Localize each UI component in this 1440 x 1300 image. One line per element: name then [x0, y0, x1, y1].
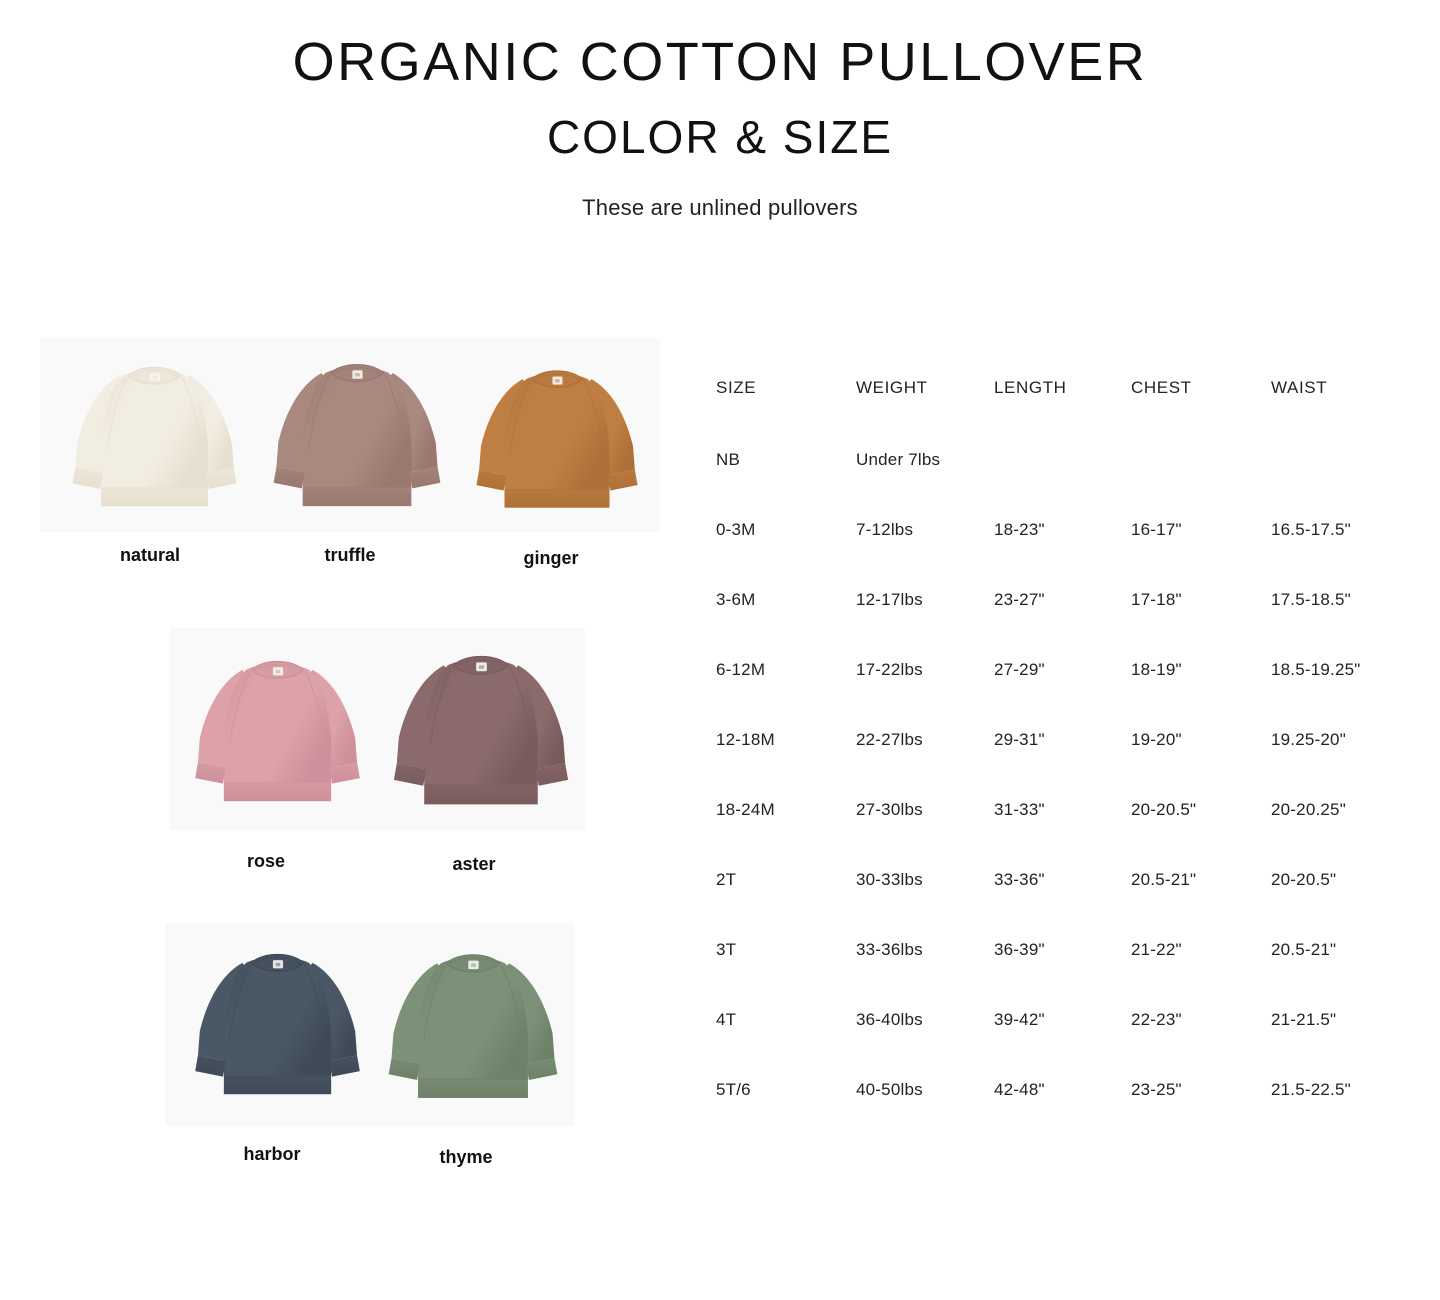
size-chart: SIZE WEIGHT LENGTH CHEST WAIST NBUnder 7… [716, 378, 1416, 1100]
sweatshirt-illustration [62, 348, 247, 523]
cell-waist: 17.5-18.5" [1271, 590, 1416, 660]
cell-size: 2T [716, 870, 856, 940]
color-label-harbor: harbor [182, 1144, 362, 1165]
table-row: 3T33-36lbs36-39"21-22"20.5-21" [716, 940, 1416, 1010]
color-label-thyme: thyme [376, 1147, 556, 1168]
cell-size: 0-3M [716, 520, 856, 590]
cell-size: 3T [716, 940, 856, 1010]
cell-chest: 19-20" [1131, 730, 1271, 800]
cell-chest: 17-18" [1131, 590, 1271, 660]
cell-length: 33-36" [994, 870, 1131, 940]
cell-weight: 36-40lbs [856, 1010, 994, 1080]
table-row: 12-18M22-27lbs29-31"19-20"19.25-20" [716, 730, 1416, 800]
sweatshirt-illustration [378, 935, 568, 1115]
cell-length: 23-27" [994, 590, 1131, 660]
column-header-waist: WAIST [1271, 378, 1416, 450]
sweatshirt-illustration [382, 636, 580, 822]
cell-length: 18-23" [994, 520, 1131, 590]
sweatshirt-illustration [262, 345, 452, 523]
cell-chest: 20-20.5" [1131, 800, 1271, 870]
size-chart-body: NBUnder 7lbs0-3M7-12lbs18-23"16-17"16.5-… [716, 450, 1416, 1100]
cell-weight: 17-22lbs [856, 660, 994, 730]
cell-size: 3-6M [716, 590, 856, 660]
table-row: NBUnder 7lbs [716, 450, 1416, 520]
table-row: 4T36-40lbs39-42"22-23"21-21.5" [716, 1010, 1416, 1080]
cell-waist: 21-21.5" [1271, 1010, 1416, 1080]
color-swatch-truffle[interactable] [262, 345, 452, 523]
table-row: 2T30-33lbs33-36"20.5-21"20-20.5" [716, 870, 1416, 940]
table-row: 3-6M12-17lbs23-27"17-18"17.5-18.5" [716, 590, 1416, 660]
color-label-aster: aster [384, 854, 564, 875]
cell-weight: 7-12lbs [856, 520, 994, 590]
table-row: 6-12M17-22lbs27-29"18-19"18.5-19.25" [716, 660, 1416, 730]
size-chart-table: SIZE WEIGHT LENGTH CHEST WAIST NBUnder 7… [716, 378, 1416, 1100]
color-label-rose: rose [176, 851, 356, 872]
cell-size: 12-18M [716, 730, 856, 800]
column-header-size: SIZE [716, 378, 856, 450]
cell-weight: 27-30lbs [856, 800, 994, 870]
column-header-length: LENGTH [994, 378, 1131, 450]
cell-length [994, 450, 1131, 520]
cell-waist: 21.5-22.5" [1271, 1080, 1416, 1100]
cell-length: 31-33" [994, 800, 1131, 870]
cell-chest: 16-17" [1131, 520, 1271, 590]
cell-chest: 21-22" [1131, 940, 1271, 1010]
cell-waist: 20.5-21" [1271, 940, 1416, 1010]
page-header: ORGANIC COTTON PULLOVER COLOR & SIZE The… [0, 0, 1440, 221]
color-label-truffle: truffle [260, 545, 440, 566]
column-header-chest: CHEST [1131, 378, 1271, 450]
cell-weight: 30-33lbs [856, 870, 994, 940]
sweatshirt-illustration [185, 640, 370, 820]
table-row: 5T/640-50lbs42-48"23-25"21.5-22.5" [716, 1080, 1416, 1100]
color-swatch-harbor[interactable] [185, 932, 370, 1114]
cell-weight: 22-27lbs [856, 730, 994, 800]
cell-size: 18-24M [716, 800, 856, 870]
color-swatch-rose[interactable] [185, 640, 370, 820]
cell-waist [1271, 450, 1416, 520]
size-chart-header-row: SIZE WEIGHT LENGTH CHEST WAIST [716, 378, 1416, 450]
cell-waist: 20-20.5" [1271, 870, 1416, 940]
cell-waist: 19.25-20" [1271, 730, 1416, 800]
cell-size: 6-12M [716, 660, 856, 730]
color-swatch-aster[interactable] [382, 636, 580, 822]
color-label-ginger: ginger [461, 548, 641, 569]
color-swatch-thyme[interactable] [378, 935, 568, 1115]
cell-length: 27-29" [994, 660, 1131, 730]
cell-waist: 20-20.25" [1271, 800, 1416, 870]
cell-weight: 40-50lbs [856, 1080, 994, 1100]
color-swatch-natural[interactable] [62, 348, 247, 523]
page-subtitle: COLOR & SIZE [0, 113, 1440, 161]
cell-size: 4T [716, 1010, 856, 1080]
cell-weight: Under 7lbs [856, 450, 994, 520]
cell-chest: 23-25" [1131, 1080, 1271, 1100]
cell-length: 39-42" [994, 1010, 1131, 1080]
page-title: ORGANIC COTTON PULLOVER [0, 34, 1440, 91]
page-tagline: These are unlined pullovers [0, 195, 1440, 221]
cell-chest: 22-23" [1131, 1010, 1271, 1080]
cell-chest [1131, 450, 1271, 520]
cell-weight: 12-17lbs [856, 590, 994, 660]
sweatshirt-illustration [462, 352, 652, 524]
color-swatch-ginger[interactable] [462, 352, 652, 524]
cell-length: 42-48" [994, 1080, 1131, 1100]
cell-length: 36-39" [994, 940, 1131, 1010]
cell-length: 29-31" [994, 730, 1131, 800]
cell-chest: 18-19" [1131, 660, 1271, 730]
cell-waist: 18.5-19.25" [1271, 660, 1416, 730]
cell-weight: 33-36lbs [856, 940, 994, 1010]
cell-size: 5T/6 [716, 1080, 856, 1100]
cell-chest: 20.5-21" [1131, 870, 1271, 940]
cell-size: NB [716, 450, 856, 520]
color-label-natural: natural [60, 545, 240, 566]
column-header-weight: WEIGHT [856, 378, 994, 450]
table-row: 0-3M7-12lbs18-23"16-17"16.5-17.5" [716, 520, 1416, 590]
sweatshirt-illustration [185, 932, 370, 1114]
cell-waist: 16.5-17.5" [1271, 520, 1416, 590]
table-row: 18-24M27-30lbs31-33"20-20.5"20-20.25" [716, 800, 1416, 870]
